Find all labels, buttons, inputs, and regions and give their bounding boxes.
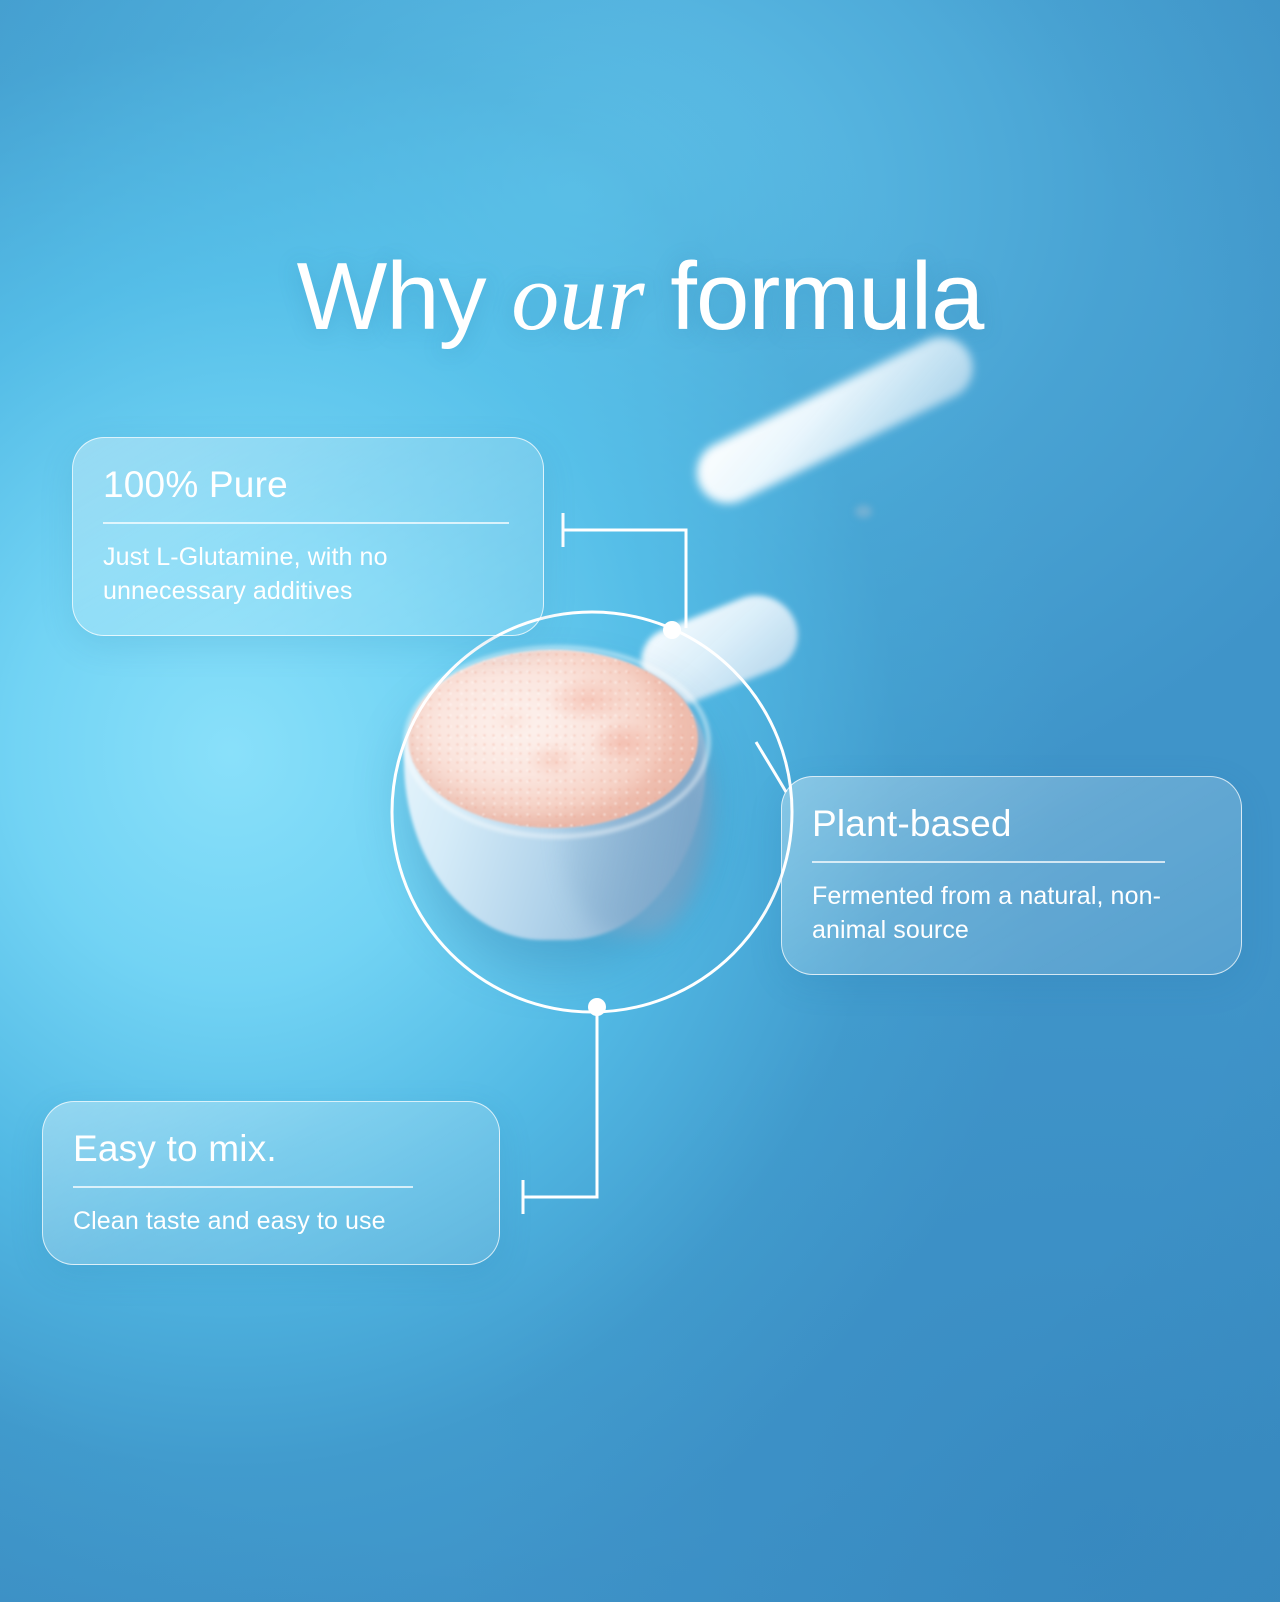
feature-card-plant-title: Plant-based [812,803,1211,844]
connector-mix-line [523,1012,597,1197]
feature-card-pure-title: 100% Pure [103,464,513,505]
feature-card-mix-title: Easy to mix. [73,1128,469,1169]
feature-card-pure-inner: 100% Pure Just L-Glutamine, with no unne… [73,438,543,635]
node-pure [663,621,681,639]
feature-card-plant-inner: Plant-based Fermented from a natural, no… [782,777,1241,974]
feature-card-plant-description: Fermented from a natural, non-animal sou… [812,879,1211,948]
feature-card-mix-divider [73,1186,413,1187]
feature-card-pure[interactable]: 100% Pure Just L-Glutamine, with no unne… [72,437,544,636]
feature-card-plant-divider [812,861,1165,862]
feature-card-mix-inner: Easy to mix. Clean taste and easy to use [43,1102,499,1264]
node-mix [588,998,606,1016]
feature-card-plant[interactable]: Plant-based Fermented from a natural, no… [781,776,1242,975]
poster-canvas: Why our formula 100% P [0,0,1280,1602]
feature-card-mix-description: Clean taste and easy to use [73,1204,469,1239]
feature-card-pure-description: Just L-Glutamine, with no unnecessary ad… [103,540,513,609]
feature-card-pure-divider [103,522,509,523]
feature-card-mix[interactable]: Easy to mix. Clean taste and easy to use [42,1101,500,1265]
product-highlight-circle [392,612,792,1012]
